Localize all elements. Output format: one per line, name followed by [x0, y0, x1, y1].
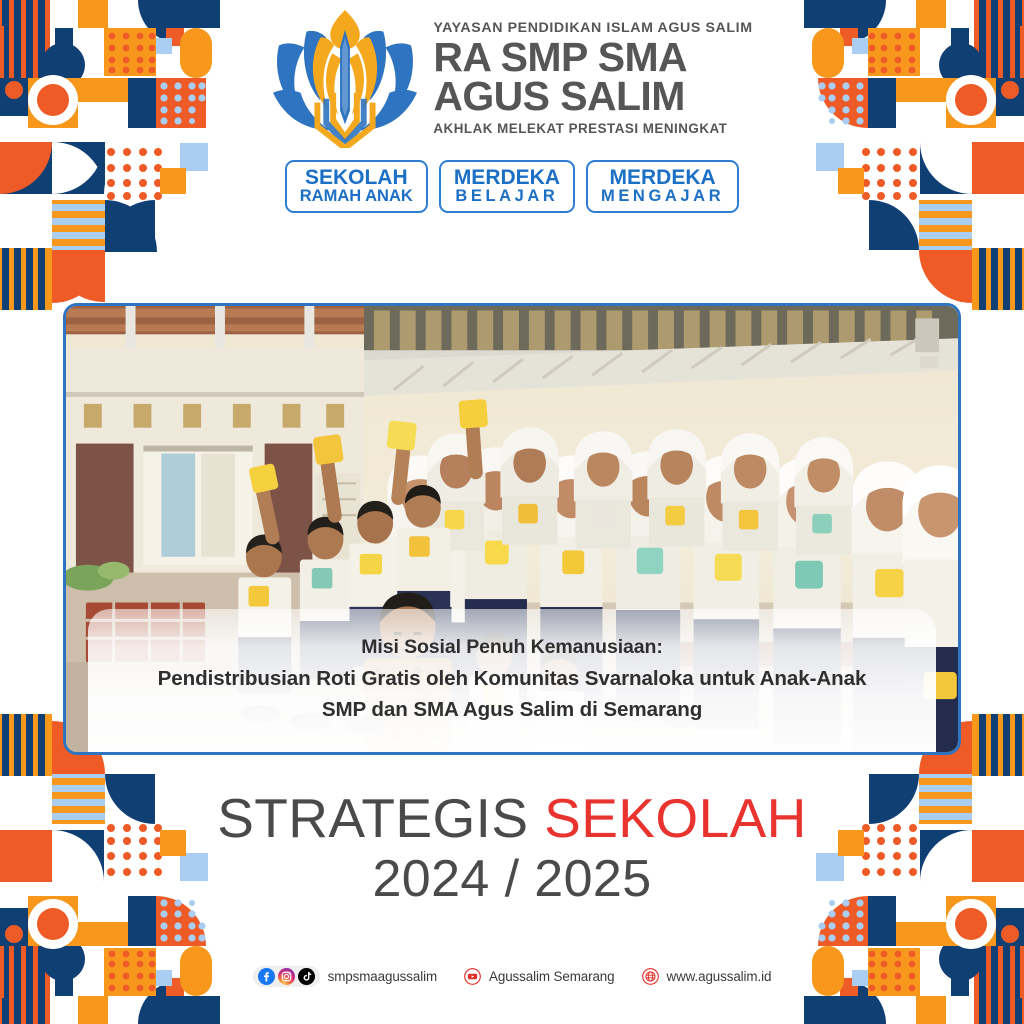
footer-group-website: www.agussalim.id	[642, 968, 772, 985]
facebook-icon[interactable]	[258, 968, 275, 985]
badge-label-line2: RAMAH ANAK	[300, 188, 413, 205]
badge-label-line1: SEKOLAH	[305, 167, 408, 188]
badge-label-line1: MERDEKA	[454, 167, 560, 188]
title-word-strategis: STRATEGIS	[217, 787, 528, 849]
social-handle-label: smpsmaagussalim	[328, 969, 437, 984]
logo-row: YAYASAN PENDIDIKAN ISLAM AGUS SALIM RA S…	[271, 8, 752, 148]
youtube-channel-label: Agussalim Semarang	[489, 969, 614, 984]
badge-sekolah-ramah-anak[interactable]: SEKOLAH RAMAH ANAK	[285, 160, 428, 213]
website-url-label: www.agussalim.id	[667, 969, 772, 984]
footer-group-youtube: Agussalim Semarang	[464, 968, 614, 985]
tiktok-icon[interactable]	[298, 968, 315, 985]
badge-label-line2: MENGAJAR	[601, 188, 724, 205]
badge-label-line1: MERDEKA	[610, 167, 716, 188]
header: YAYASAN PENDIDIKAN ISLAM AGUS SALIM RA S…	[0, 8, 1024, 213]
school-name-line1: RA SMP SMA	[433, 38, 687, 78]
lotus-flame-logo-icon	[271, 8, 419, 148]
poster-canvas: YAYASAN PENDIDIKAN ISLAM AGUS SALIM RA S…	[0, 0, 1024, 1024]
youtube-icon[interactable]	[464, 968, 481, 985]
caption-line-1: Misi Sosial Penuh Kemanusiaan:	[118, 638, 906, 658]
social-icon-pill	[253, 966, 320, 987]
instagram-icon[interactable]	[278, 968, 295, 985]
photo-card: Misi Sosial Penuh Kemanusiaan: Pendistri…	[63, 303, 961, 755]
badge-merdeka-mengajar[interactable]: MERDEKA MENGAJAR	[586, 160, 739, 213]
title-word-sekolah: SEKOLAH	[544, 787, 807, 849]
badge-merdeka-belajar[interactable]: MERDEKA BELAJAR	[439, 160, 575, 213]
title-line-1: STRATEGIS SEKOLAH	[0, 788, 1024, 850]
caption-line-2: Pendistribusian Roti Gratis oleh Komunit…	[118, 669, 906, 690]
logo-text-block: YAYASAN PENDIDIKAN ISLAM AGUS SALIM RA S…	[433, 20, 752, 136]
footer-group-social: smpsmaagussalim	[253, 966, 437, 987]
photo-caption: Misi Sosial Penuh Kemanusiaan: Pendistri…	[88, 609, 936, 752]
bottom-title: STRATEGIS SEKOLAH 2024 / 2025	[0, 788, 1024, 909]
school-tagline: AKHLAK MELEKAT PRESTASI MENINGKAT	[433, 121, 727, 136]
school-name-line2: AGUS SALIM	[433, 77, 684, 117]
footer-contact-bar: smpsmaagussalim Agussalim Semarang www.a…	[0, 966, 1024, 987]
badge-row: SEKOLAH RAMAH ANAK MERDEKA BELAJAR MERDE…	[285, 160, 739, 213]
badge-label-line2: BELAJAR	[455, 188, 558, 205]
title-years: 2024 / 2025	[0, 850, 1024, 909]
caption-line-3: SMP dan SMA Agus Salim di Semarang	[118, 700, 906, 721]
globe-icon[interactable]	[642, 968, 659, 985]
